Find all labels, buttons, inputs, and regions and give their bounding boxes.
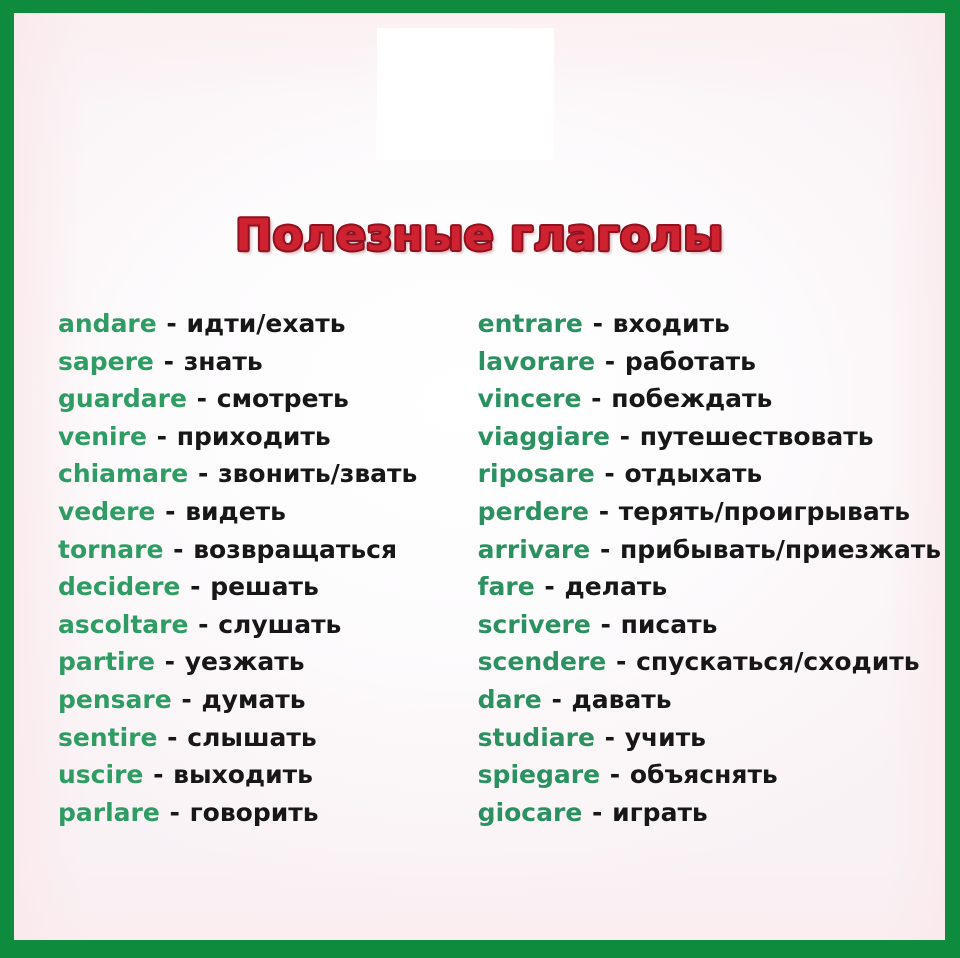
verb-russian: играть — [612, 798, 708, 827]
verb-row: studiare - учить — [478, 719, 945, 757]
verb-row: tornare - возвращаться — [58, 531, 466, 569]
verb-row: pensare - думать — [58, 681, 466, 719]
verb-russian: знать — [184, 347, 263, 376]
verb-row: sentire - слышать — [58, 719, 466, 757]
verb-russian: работать — [625, 347, 756, 376]
verb-row: spiegare - объяснять — [478, 756, 945, 794]
poster-frame: Полезные глаголы andare - идти/ехатьsape… — [0, 0, 960, 958]
verb-russian: выходить — [173, 760, 313, 789]
verb-separator-dash: - — [610, 422, 640, 451]
verb-row: ascoltare - слушать — [58, 606, 466, 644]
verb-russian: делать — [565, 572, 668, 601]
verb-russian: побеждать — [611, 384, 772, 413]
verb-separator-dash: - — [581, 384, 611, 413]
verb-italian: scendere — [478, 647, 607, 676]
verb-row: sapere - знать — [58, 343, 466, 381]
verb-separator-dash: - — [583, 309, 613, 338]
verb-row: partire - уезжать — [58, 643, 466, 681]
verb-separator-dash: - — [155, 647, 185, 676]
verb-list: andare - идти/ехатьsapere - знатьguardar… — [14, 305, 945, 831]
verb-row: uscire - выходить — [58, 756, 466, 794]
verb-separator-dash: - — [188, 610, 218, 639]
verb-row: perdere - терять/проигрывать — [478, 493, 945, 531]
verb-row: scrivere - писать — [478, 606, 945, 644]
verb-russian: прибывать/приезжать — [620, 535, 941, 564]
verb-separator-dash: - — [154, 347, 184, 376]
verb-italian: ascoltare — [58, 610, 188, 639]
verb-italian: viaggiare — [478, 422, 610, 451]
verb-separator-dash: - — [600, 760, 630, 789]
verb-separator-dash: - — [595, 459, 625, 488]
verb-separator-dash: - — [590, 535, 620, 564]
verb-italian: andare — [58, 309, 157, 338]
verb-russian: возвращаться — [193, 535, 397, 564]
verb-russian: видеть — [185, 497, 286, 526]
verb-italian: uscire — [58, 760, 143, 789]
verb-italian: partire — [58, 647, 155, 676]
verb-separator-dash: - — [582, 798, 612, 827]
verb-italian: studiare — [478, 723, 595, 752]
verb-russian: писать — [621, 610, 718, 639]
verb-italian: fare — [478, 572, 535, 601]
poster-card: Полезные глаголы andare - идти/ехатьsape… — [14, 13, 945, 940]
verb-separator-dash: - — [595, 723, 625, 752]
verb-row: vincere - побеждать — [478, 380, 945, 418]
verb-italian: scrivere — [478, 610, 591, 639]
verb-italian: lavorare — [478, 347, 595, 376]
verb-separator-dash: - — [542, 685, 572, 714]
verb-separator-dash: - — [180, 572, 210, 601]
verb-row: venire - приходить — [58, 418, 466, 456]
verb-row: guardare - смотреть — [58, 380, 466, 418]
verb-row: fare - делать — [478, 568, 945, 606]
verb-row: andare - идти/ехать — [58, 305, 466, 343]
verb-italian: sapere — [58, 347, 154, 376]
verb-separator-dash: - — [535, 572, 565, 601]
verb-separator-dash: - — [157, 723, 187, 752]
verb-separator-dash: - — [589, 497, 619, 526]
verb-separator-dash: - — [155, 497, 185, 526]
verb-italian: guardare — [58, 384, 187, 413]
verb-row: vedere - видеть — [58, 493, 466, 531]
verb-russian: спускаться/сходить — [636, 647, 919, 676]
verb-russian: давать — [572, 685, 672, 714]
verb-italian: riposare — [478, 459, 595, 488]
verb-italian: arrivare — [478, 535, 591, 564]
verb-separator-dash: - — [187, 384, 217, 413]
verb-russian: учить — [625, 723, 706, 752]
verb-russian: идти/ехать — [187, 309, 346, 338]
verb-italian: venire — [58, 422, 147, 451]
verb-row: chiamare - звонить/звать — [58, 455, 466, 493]
verb-italian: vincere — [478, 384, 582, 413]
verb-russian: звонить/звать — [218, 459, 417, 488]
verb-separator-dash: - — [163, 535, 193, 564]
verb-italian: parlare — [58, 798, 160, 827]
blank-white-patch — [377, 28, 554, 160]
verb-row: giocare - играть — [478, 794, 945, 832]
verb-italian: pensare — [58, 685, 172, 714]
verb-italian: entrare — [478, 309, 583, 338]
verb-row: riposare - отдыхать — [478, 455, 945, 493]
verb-separator-dash: - — [157, 309, 187, 338]
verb-russian: смотреть — [217, 384, 349, 413]
verb-russian: приходить — [177, 422, 331, 451]
verb-row: scendere - спускаться/сходить — [478, 643, 945, 681]
verb-italian: tornare — [58, 535, 163, 564]
verb-row: parlare - говорить — [58, 794, 466, 832]
verb-row: dare - давать — [478, 681, 945, 719]
verb-row: decidere - решать — [58, 568, 466, 606]
verb-russian: входить — [613, 309, 730, 338]
verb-russian: говорить — [190, 798, 319, 827]
verb-russian: слышать — [187, 723, 316, 752]
verb-separator-dash: - — [591, 610, 621, 639]
verb-italian: vedere — [58, 497, 155, 526]
verb-italian: spiegare — [478, 760, 600, 789]
verb-italian: chiamare — [58, 459, 188, 488]
verb-italian: dare — [478, 685, 542, 714]
verb-separator-dash: - — [147, 422, 177, 451]
verb-row: lavorare - работать — [478, 343, 945, 381]
verb-column-right: entrare - входитьlavorare - работатьvinc… — [478, 305, 945, 831]
verb-italian: giocare — [478, 798, 583, 827]
verb-russian: отдыхать — [624, 459, 762, 488]
verb-italian: sentire — [58, 723, 157, 752]
verb-italian: decidere — [58, 572, 180, 601]
verb-separator-dash: - — [172, 685, 202, 714]
verb-russian: думать — [201, 685, 305, 714]
page-title: Полезные глаголы — [14, 210, 945, 261]
verb-row: viaggiare - путешествовать — [478, 418, 945, 456]
verb-separator-dash: - — [606, 647, 636, 676]
verb-russian: решать — [210, 572, 319, 601]
verb-separator-dash: - — [595, 347, 625, 376]
verb-separator-dash: - — [143, 760, 173, 789]
verb-russian: терять/проигрывать — [619, 497, 910, 526]
verb-russian: путешествовать — [640, 422, 874, 451]
verb-russian: уезжать — [185, 647, 305, 676]
verb-italian: perdere — [478, 497, 589, 526]
verb-russian: слушать — [218, 610, 341, 639]
verb-column-left: andare - идти/ехатьsapere - знатьguardar… — [58, 305, 466, 831]
verb-separator-dash: - — [160, 798, 190, 827]
verb-row: entrare - входить — [478, 305, 945, 343]
verb-separator-dash: - — [188, 459, 218, 488]
verb-russian: объяснять — [630, 760, 778, 789]
verb-row: arrivare - прибывать/приезжать — [478, 531, 945, 569]
